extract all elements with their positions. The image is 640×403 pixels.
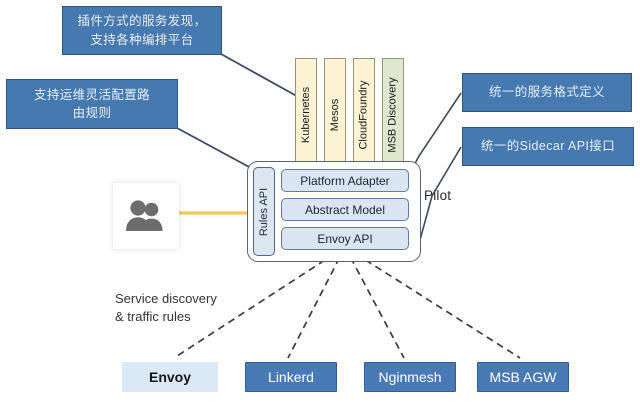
users-icon-glyph xyxy=(124,200,168,232)
rules-api-label: Rules API xyxy=(258,187,270,235)
platform-label-kubernetes: Kubernetes xyxy=(300,87,312,143)
callout-ops-line1: 支持运维灵活配置路 xyxy=(34,86,150,104)
callout-plugin-discovery: 插件方式的服务发现， 支持各种编排平台 xyxy=(62,6,222,55)
callout-sidecar-line1: 统一的Sidecar API接口 xyxy=(481,137,615,155)
layer-label-platform-adapter: Platform Adapter xyxy=(300,174,389,188)
connector-ops xyxy=(177,128,251,168)
layer-envoy-api: Envoy API xyxy=(281,227,409,250)
layer-label-abstract-model: Abstract Model xyxy=(305,203,385,217)
impl-label-linkerd: Linkerd xyxy=(268,369,314,385)
callout-service-format: 统一的服务格式定义 xyxy=(462,73,632,112)
diagram-canvas: 插件方式的服务发现， 支持各种编排平台 支持运维灵活配置路 由规则 统一的服务格… xyxy=(0,0,640,403)
layer-platform-adapter: Platform Adapter xyxy=(281,169,409,192)
callout-format-line1: 统一的服务格式定义 xyxy=(489,83,605,101)
dashed-fanout xyxy=(174,247,520,358)
flow-label-line1: Service discovery xyxy=(115,290,217,308)
callout-ops-routing: 支持运维灵活配置路 由规则 xyxy=(6,79,178,129)
platform-bar-kubernetes: Kubernetes xyxy=(295,58,317,172)
callout-plugin-line1: 插件方式的服务发现， xyxy=(77,12,206,30)
impl-label-nginmesh: Nginmesh xyxy=(378,369,441,385)
callout-plugin-line2: 支持各种编排平台 xyxy=(77,31,206,49)
users-icon xyxy=(113,183,179,249)
impl-label-msb-agw: MSB AGW xyxy=(490,369,557,385)
callout-ops-line2: 由规则 xyxy=(34,104,150,122)
platform-label-cloudfoundry: CloudFoundry xyxy=(358,80,370,149)
impl-nginmesh: Nginmesh xyxy=(364,362,456,392)
layer-label-envoy-api: Envoy API xyxy=(317,232,372,246)
rules-api-tab: Rules API xyxy=(253,167,275,256)
connector-plugin xyxy=(221,54,302,99)
flow-label-line2: & traffic rules xyxy=(115,308,217,326)
impl-envoy: Envoy xyxy=(122,362,218,392)
impl-msb-agw: MSB AGW xyxy=(477,362,569,392)
connector-format xyxy=(411,93,461,171)
layer-abstract-model: Abstract Model xyxy=(281,198,409,221)
platform-bar-msb-discovery: MSB Discovery xyxy=(382,58,404,172)
platform-bar-cloudfoundry: CloudFoundry xyxy=(353,58,375,172)
flow-label: Service discovery & traffic rules xyxy=(115,290,217,325)
platform-label-mesos: Mesos xyxy=(329,99,341,131)
platform-label-msb-discovery: MSB Discovery xyxy=(387,77,399,152)
impl-label-envoy: Envoy xyxy=(149,369,191,385)
callout-sidecar-api: 统一的Sidecar API接口 xyxy=(462,127,634,166)
pilot-label: Pilot xyxy=(424,188,451,203)
impl-linkerd: Linkerd xyxy=(245,362,337,392)
platform-bar-mesos: Mesos xyxy=(324,58,346,172)
